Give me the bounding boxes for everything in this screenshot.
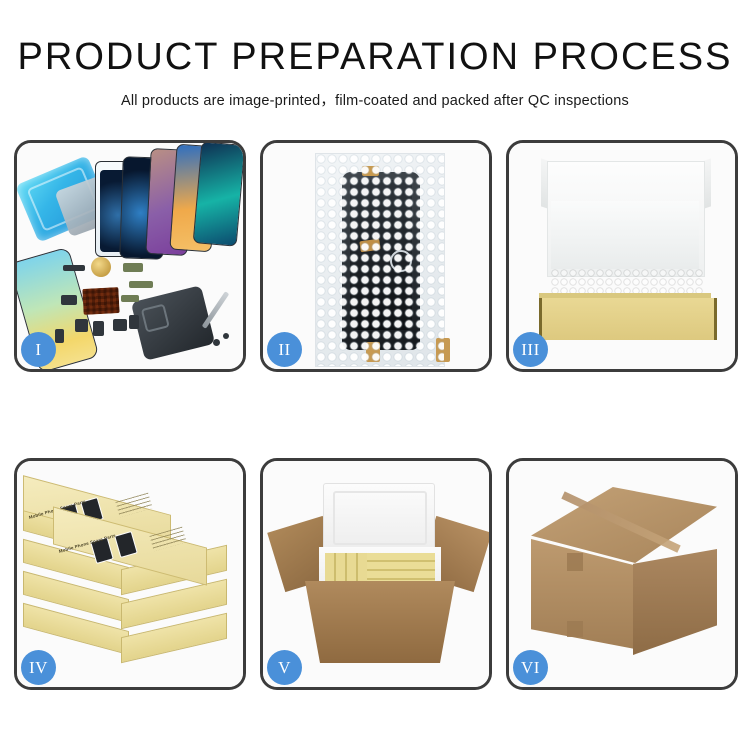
sealed-carton-image [509,461,735,687]
part-icon-3 [93,321,104,336]
step-badge-3: III [513,332,548,367]
step-badge-1: I [21,332,56,367]
flex-cable-icon-2 [129,281,153,288]
process-step-5: V [260,458,492,690]
process-step-1: I [14,140,246,372]
step-badge-2: II [267,332,302,367]
bubble-texture [316,154,444,366]
carton-side-face [633,549,717,655]
flex-cable-icon-3 [121,295,139,302]
open-carton-image [263,461,489,687]
page-header: PRODUCT PREPARATION PROCESS All products… [0,0,750,110]
bubble-wrapped-screen-image [263,143,489,369]
phone-icon-4 [193,143,243,247]
foam-lid-inner-edge [333,491,427,545]
screw-icon-1 [213,339,220,346]
process-grid: I II [14,140,736,690]
step-badge-6: VI [513,650,548,685]
part-icon-2 [75,319,88,332]
page-subtitle: All products are image-printed，film-coat… [0,89,750,110]
part-icon-4 [113,319,127,331]
screw-icon-2 [223,333,229,339]
foam-sheet [551,201,699,269]
box-base-front [539,298,717,340]
speaker-coil-icon [91,257,111,277]
part-icon-6 [61,295,77,305]
step-badge-4: IV [21,650,56,685]
page-title: PRODUCT PREPARATION PROCESS [0,38,750,76]
components-collage-image [17,143,243,369]
product-preparation-page: PRODUCT PREPARATION PROCESS All products… [0,0,750,750]
open-yellow-box-image [509,143,735,369]
part-icon-1 [63,265,85,271]
carton-tape-lower [567,621,583,637]
process-step-6: VI [506,458,738,690]
stacked-boxes-image: Mobile Phone Spare Parts Mobile Phone Sp… [17,461,243,687]
process-step-3: III [506,140,738,372]
carton-body [305,581,455,663]
flex-cable-icon-1 [123,263,143,272]
part-icon-7 [55,329,64,343]
step-badge-5: V [267,650,302,685]
circuit-board-icon [82,287,119,315]
part-icon-5 [129,315,139,329]
carton-tape-upper [567,553,583,571]
process-step-2: II [260,140,492,372]
process-step-4: Mobile Phone Spare Parts Mobile Phone Sp… [14,458,246,690]
bubble-wrap-sheet [315,153,445,367]
